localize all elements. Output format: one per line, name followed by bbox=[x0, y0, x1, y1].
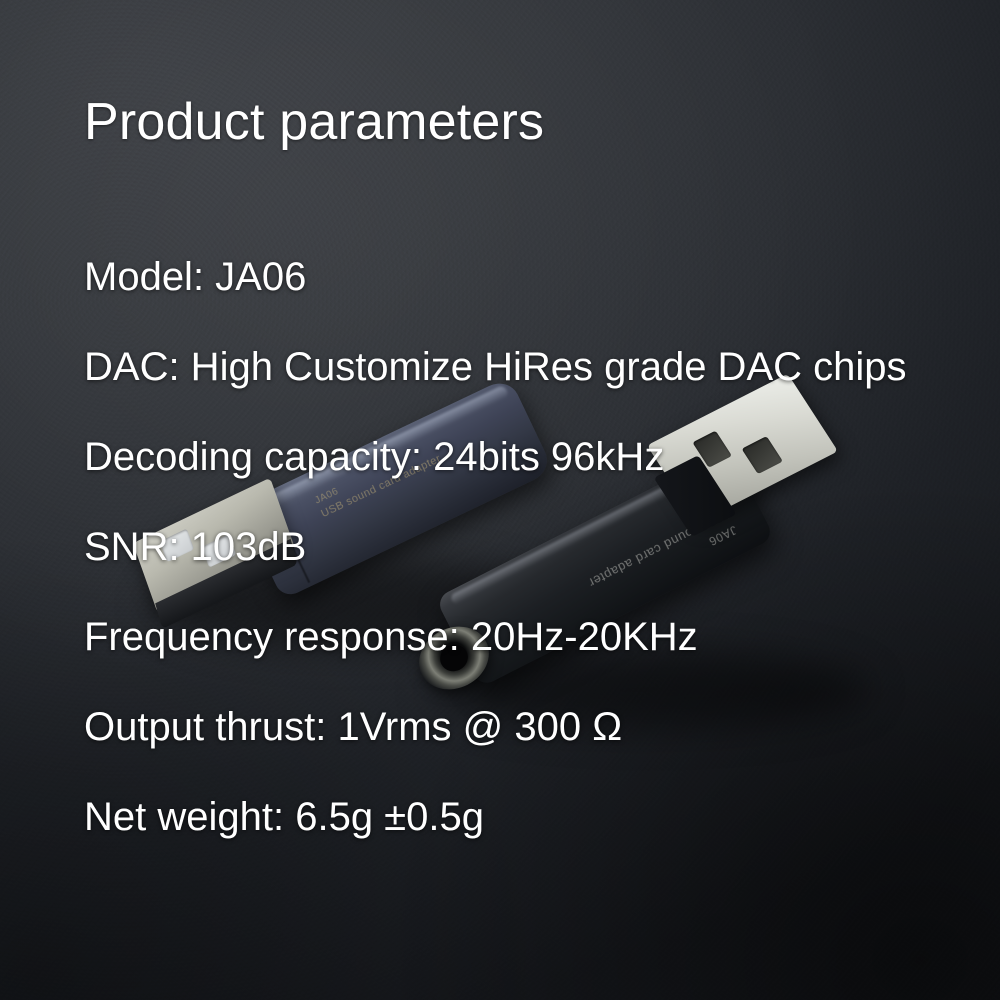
spec-snr: SNR: 103dB bbox=[84, 502, 907, 592]
spec-model: Model: JA06 bbox=[84, 232, 907, 322]
product-parameters-image: JA06 USB sound card adapter JA06 USB sou… bbox=[0, 0, 1000, 1000]
spec-output-thrust: Output thrust: 1Vrms @ 300 Ω bbox=[84, 682, 907, 772]
specification-list: Model: JA06 DAC: High Customize HiRes gr… bbox=[84, 232, 907, 862]
page-title: Product parameters bbox=[84, 92, 544, 152]
specification-overlay: Product parameters Model: JA06 DAC: High… bbox=[0, 0, 1000, 1000]
spec-dac: DAC: High Customize HiRes grade DAC chip… bbox=[84, 322, 907, 412]
spec-frequency-response: Frequency response: 20Hz-20KHz bbox=[84, 592, 907, 682]
spec-decoding-capacity: Decoding capacity: 24bits 96kHz bbox=[84, 412, 907, 502]
spec-net-weight: Net weight: 6.5g ±0.5g bbox=[84, 772, 907, 862]
